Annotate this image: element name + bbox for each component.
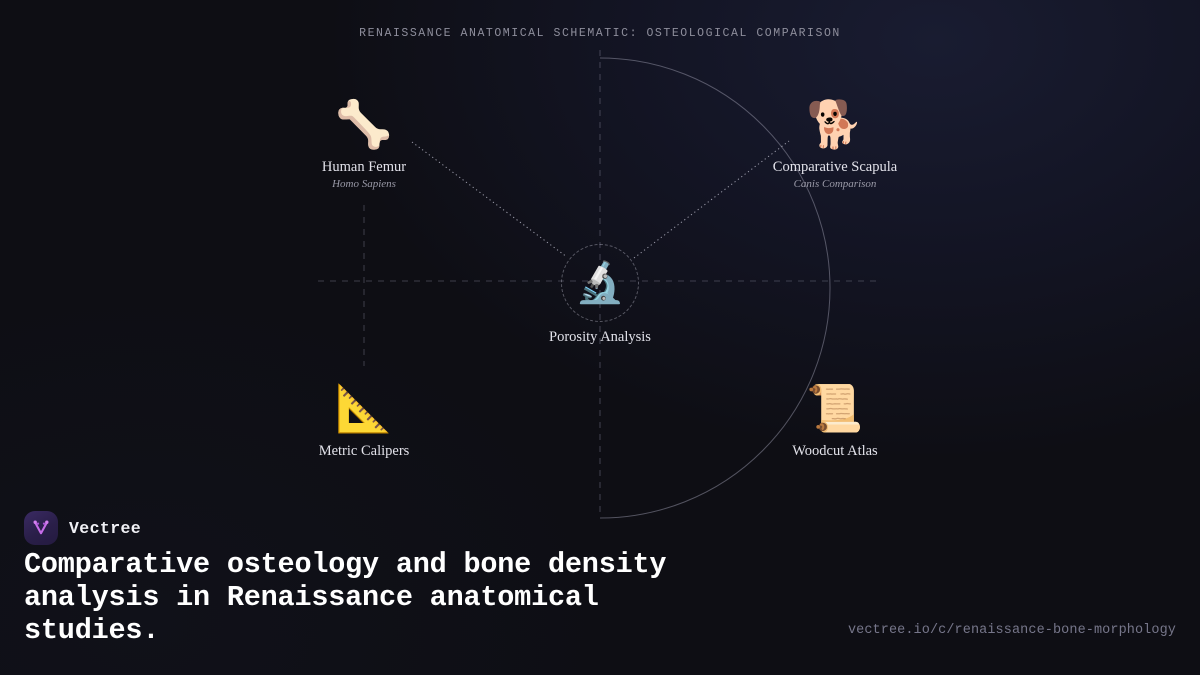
node-metric-calipers[interactable]: 📐 Metric Calipers (249, 382, 479, 460)
node-label: Human Femur (249, 158, 479, 176)
headline: Comparative osteology and bone density a… (24, 548, 744, 647)
triangular-ruler-icon: 📐 (249, 382, 479, 438)
vectree-glyph (31, 518, 51, 538)
node-woodcut-atlas[interactable]: 📜 Woodcut Atlas (720, 382, 950, 460)
footer-url: vectree.io/c/renaissance-bone-morphology (848, 623, 1176, 638)
dog-icon: 🐕 (720, 98, 950, 154)
schematic-header-title: RENAISSANCE ANATOMICAL SCHEMATIC: OSTEOL… (0, 27, 1200, 40)
node-sublabel: Homo Sapiens (249, 177, 479, 191)
node-comparative-scapula[interactable]: 🐕 Comparative Scapula Canis Comparison (720, 98, 950, 191)
hub-ring: 🔬 (561, 244, 639, 322)
node-porosity-analysis[interactable]: 🔬 Porosity Analysis (485, 244, 715, 346)
bone-icon: 🦴 (249, 98, 479, 154)
brand-row: Vectree (24, 511, 141, 545)
microscope-icon: 🔬 (575, 261, 625, 305)
node-label: Porosity Analysis (485, 328, 715, 346)
schematic-canvas: RENAISSANCE ANATOMICAL SCHEMATIC: OSTEOL… (0, 0, 1200, 675)
node-human-femur[interactable]: 🦴 Human Femur Homo Sapiens (249, 98, 479, 191)
node-label: Woodcut Atlas (720, 442, 950, 460)
node-label: Comparative Scapula (720, 158, 950, 176)
brand-name: Vectree (69, 519, 141, 538)
vectree-tree-logo (24, 511, 58, 545)
scroll-icon: 📜 (720, 382, 950, 438)
node-sublabel: Canis Comparison (720, 177, 950, 191)
node-label: Metric Calipers (249, 442, 479, 460)
